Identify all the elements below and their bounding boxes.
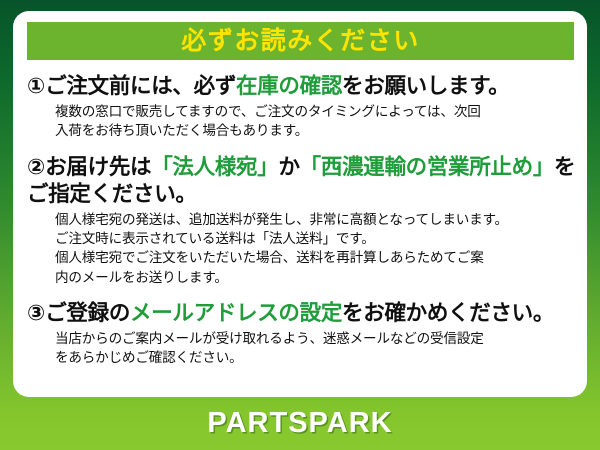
notice-item-1-head-part-0: ご注文前には、必ず [45,74,236,98]
notice-item-2-head-part-2: か [278,155,299,179]
notice-item-2-head-part-0: お届け先は [45,155,151,179]
notice-item-2: ②お届け先は「法人様宛」か「西濃運輸の営業所止め」をご指定ください。 個人様宅宛… [21,154,579,287]
notice-item-1-heading: ①ご注文前には、必ず在庫の確認をお願いします。 [21,73,579,100]
notice-item-3-heading: ③ご登録のメールアドレスの設定をお確かめください。 [21,300,579,327]
notice-item-1-body: 複数の窓口で販売してますので、ご注文のタイミングによっては、次回 入荷をお待ち頂… [21,102,579,141]
page-title: 必ずお読みください [181,29,420,54]
notice-item-3-head-part-0: ご登録の [45,301,130,325]
notice-item-3-head-part-2: をお確かめください。 [342,301,554,325]
footer: PARTSPARK [0,397,600,450]
notice-item-3-number: ③ [27,301,45,325]
notice-item-1-head-highlight: 在庫の確認 [236,74,342,98]
notice-card: 必ずお読みください ①ご注文前には、必ず在庫の確認をお願いします。 複数の窓口で… [13,11,587,397]
notice-item-1-head-part-2: をお願いします。 [342,74,509,98]
notice-item-3-head-highlight: メールアドレスの設定 [130,301,342,325]
notice-item-2-head-highlight-2: 「西濃運輸の営業所止め」 [300,155,554,179]
notice-item-2-heading: ②お届け先は「法人様宛」か「西濃運輸の営業所止め」をご指定ください。 [21,154,579,208]
notice-list: ①ご注文前には、必ず在庫の確認をお願いします。 複数の窓口で販売してますので、ご… [13,67,587,368]
notice-banner: 必ずお読みください ①ご注文前には、必ず在庫の確認をお願いします。 複数の窓口で… [0,0,600,450]
notice-item-2-body: 個人様宅宛の発送は、追加送料が発生し、非常に高額となってしまいます。 ご注文時に… [21,210,579,287]
notice-item-2-head-highlight-1: 「法人様宛」 [151,155,278,179]
brand-logo: PARTSPARK [207,407,392,440]
notice-item-1: ①ご注文前には、必ず在庫の確認をお願いします。 複数の窓口で販売してますので、ご… [21,73,579,141]
notice-item-1-number: ① [27,74,45,98]
notice-item-3-body: 当店からのご案内メールが受け取れるよう、迷惑メールなどの受信設定 をあらかじめご… [21,329,579,368]
notice-item-3: ③ご登録のメールアドレスの設定をお確かめください。 当店からのご案内メールが受け… [21,300,579,368]
header-strip: 必ずお読みください [27,22,574,60]
notice-item-2-number: ② [27,155,45,179]
